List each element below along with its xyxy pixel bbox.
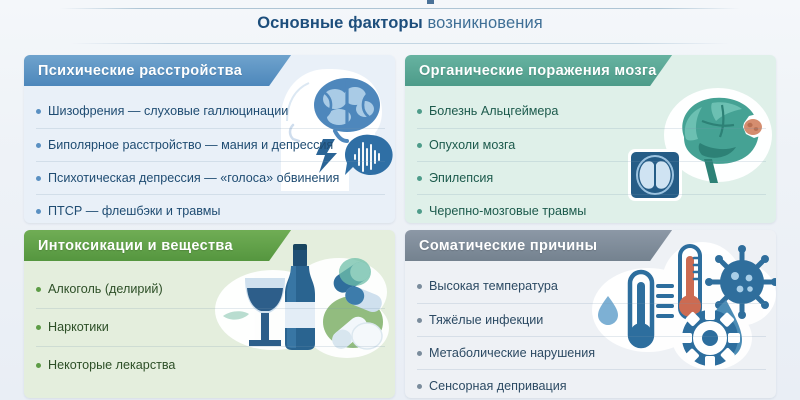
- factors-card-grid: Психические расстройства: [24, 55, 776, 398]
- bullet-dot-icon: [417, 209, 422, 214]
- card-header-somatic: Соматические причины: [405, 230, 776, 261]
- list-item-label: Метаболические нарушения: [429, 346, 595, 360]
- list-item[interactable]: Наркотики: [36, 308, 385, 346]
- list-item[interactable]: Опухоли мозга: [417, 128, 766, 161]
- bullet-dot-icon: [417, 318, 422, 323]
- list-item-label: Болезнь Альцгеймера: [429, 104, 558, 118]
- list-item[interactable]: Черепно-мозговые травмы: [417, 194, 766, 223]
- list-item[interactable]: ПТСР — флешбэки и травмы: [36, 194, 385, 223]
- page-title: Основные факторы возникновения: [0, 14, 800, 33]
- bullet-dot-icon: [36, 143, 41, 148]
- list-item-label: Опухоли мозга: [429, 138, 515, 152]
- page-title-strong: Основные факторы: [257, 14, 423, 32]
- list-item[interactable]: Некоторые лекарства: [36, 346, 385, 384]
- list-item[interactable]: Алкоголь (делирий): [36, 270, 385, 308]
- list-item-label: Тяжёлые инфекции: [429, 313, 543, 327]
- bullet-dot-icon: [417, 143, 422, 148]
- bullet-dot-icon: [36, 209, 41, 214]
- list-item-label: Биполярное расстройство — мания и депрес…: [48, 138, 333, 152]
- title-underline-rule: [70, 43, 730, 44]
- list-item[interactable]: Метаболические нарушения: [417, 336, 766, 369]
- card-body-psychiatric: Шизофрения — слуховые галлюцинации Бипол…: [24, 86, 395, 223]
- bullet-dot-icon: [417, 351, 422, 356]
- card-title-intoxication: Интоксикации и вещества: [24, 238, 233, 254]
- list-item[interactable]: Шизофрения — слуховые галлюцинации: [36, 95, 385, 128]
- card-header-organic: Органические поражения мозга: [405, 55, 776, 86]
- card-header-intoxication: Интоксикации и вещества: [24, 230, 395, 261]
- list-item[interactable]: Сенсорная депривация: [417, 369, 766, 398]
- page-title-light: возникновения: [428, 14, 543, 32]
- list-item-label: Психотическая депрессия — «голоса» обвин…: [48, 171, 339, 185]
- card-organic-brain-damage[interactable]: Органические поражения мозга: [405, 55, 776, 223]
- bullet-dot-icon: [36, 325, 41, 330]
- card-body-organic: Болезнь Альцгеймера Опухоли мозга Эпилеп…: [405, 86, 776, 223]
- list-item-label: Эпилепсия: [429, 171, 493, 185]
- card-intoxication-substances[interactable]: Интоксикации и вещества: [24, 230, 395, 398]
- list-item-label: Шизофрения — слуховые галлюцинации: [48, 104, 288, 118]
- list-item[interactable]: Высокая температура: [417, 270, 766, 303]
- card-psychiatric-disorders[interactable]: Психические расстройства: [24, 55, 395, 223]
- list-item-label: Алкоголь (делирий): [48, 282, 163, 296]
- list-item[interactable]: Тяжёлые инфекции: [417, 303, 766, 336]
- list-item[interactable]: Психотическая депрессия — «голоса» обвин…: [36, 161, 385, 194]
- clipped-text-fragment: [427, 0, 434, 4]
- bullet-dot-icon: [417, 109, 422, 114]
- list-item-label: Высокая температура: [429, 279, 558, 293]
- list-item-label: Некоторые лекарства: [48, 358, 175, 372]
- card-title-psychiatric: Психические расстройства: [24, 63, 242, 79]
- card-title-somatic: Соматические причины: [405, 238, 597, 254]
- list-item-label: ПТСР — флешбэки и травмы: [48, 204, 220, 218]
- list-item[interactable]: Болезнь Альцгеймера: [417, 95, 766, 128]
- top-divider-rule: [60, 8, 740, 9]
- list-item-label: Сенсорная депривация: [429, 379, 567, 393]
- list-item[interactable]: Эпилепсия: [417, 161, 766, 194]
- list-item-label: Наркотики: [48, 320, 109, 334]
- card-body-somatic: Высокая температура Тяжёлые инфекции Мет…: [405, 261, 776, 398]
- card-header-psychiatric: Психические расстройства: [24, 55, 395, 86]
- bullet-dot-icon: [36, 363, 41, 368]
- bullet-dot-icon: [36, 287, 41, 292]
- card-body-intoxication: Алкоголь (делирий) Наркотики Некоторые л…: [24, 261, 395, 398]
- bullet-dot-icon: [417, 284, 422, 289]
- bullet-dot-icon: [36, 176, 41, 181]
- bullet-dot-icon: [417, 176, 422, 181]
- list-item-label: Черепно-мозговые травмы: [429, 204, 586, 218]
- list-item[interactable]: Биполярное расстройство — мания и депрес…: [36, 128, 385, 161]
- bullet-dot-icon: [417, 384, 422, 389]
- card-somatic-causes[interactable]: Соматические причины: [405, 230, 776, 398]
- bullet-dot-icon: [36, 109, 41, 114]
- card-title-organic: Органические поражения мозга: [405, 63, 657, 79]
